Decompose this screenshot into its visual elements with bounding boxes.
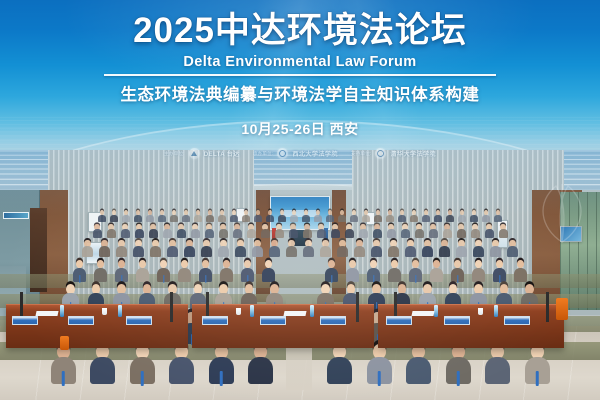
attendee — [458, 210, 466, 222]
name-card — [320, 316, 346, 325]
attendee-body — [99, 246, 110, 257]
attendee-body — [157, 268, 171, 282]
attendee-body — [275, 229, 284, 238]
attendee-body — [485, 357, 510, 384]
attendee — [266, 210, 274, 222]
attendee-body — [387, 229, 396, 238]
attendee — [149, 224, 158, 238]
attendee-body — [220, 268, 234, 282]
attendee-body — [134, 215, 142, 222]
attendee-body — [422, 246, 433, 257]
table-leg — [546, 292, 549, 322]
attendee-body — [115, 268, 129, 282]
attendee — [354, 240, 365, 257]
attendee — [514, 260, 528, 282]
attendee — [178, 260, 192, 282]
head-table — [378, 304, 564, 348]
orange-folder — [60, 336, 69, 350]
attendee-body — [514, 268, 528, 282]
attendee-body — [254, 215, 262, 222]
page-title-english: Delta Environmental Law Forum — [183, 54, 416, 70]
attendee-body — [443, 229, 452, 238]
university-seal-logo-icon — [375, 148, 386, 159]
orange-bag — [556, 298, 568, 320]
audience-row — [0, 224, 600, 238]
attendee — [233, 224, 242, 238]
attendee — [220, 260, 234, 282]
attendee-body — [107, 229, 116, 238]
name-card — [202, 316, 228, 325]
attendee-body — [51, 357, 76, 384]
attendee-body — [116, 246, 127, 257]
attendee-body — [525, 357, 550, 384]
attendee-body — [493, 268, 507, 282]
audience-row — [0, 210, 600, 222]
attendee — [388, 260, 402, 282]
attendee — [261, 224, 270, 238]
attendee-body — [386, 215, 394, 222]
attendee-body — [354, 246, 365, 257]
sponsor-name-label: 西北大学法学院 — [292, 149, 337, 158]
page-subtitle: 生态环境法典编纂与环境法学自主知识体系构建 — [120, 81, 479, 105]
attendee-body — [456, 246, 467, 257]
attendee — [254, 210, 262, 222]
attendee — [422, 240, 433, 257]
attendee — [146, 210, 154, 222]
attendee — [362, 210, 370, 222]
attendee-body — [374, 215, 382, 222]
document-stack — [35, 311, 58, 316]
attendee — [278, 210, 286, 222]
attendee-body — [507, 246, 518, 257]
attendee — [401, 224, 410, 238]
attendee — [337, 240, 348, 257]
attendee-body — [266, 215, 274, 222]
attendee-body — [135, 229, 144, 238]
attendee-body — [110, 215, 118, 222]
attendee — [289, 224, 298, 238]
attendee — [367, 344, 392, 384]
attendee-body — [446, 357, 471, 384]
attendee-body — [446, 215, 454, 222]
attendee — [262, 260, 276, 282]
name-card — [68, 316, 94, 325]
attendee — [443, 224, 452, 238]
attendee-body — [90, 357, 115, 384]
attendee-body — [248, 357, 273, 384]
attendee — [136, 260, 150, 282]
attendee — [163, 224, 172, 238]
attendee — [359, 224, 368, 238]
attendee-body — [317, 229, 326, 238]
attendee-body — [470, 215, 478, 222]
paper-cup — [478, 308, 483, 315]
attendee-body — [405, 246, 416, 257]
attendee-body — [233, 229, 242, 238]
attendee — [93, 224, 102, 238]
water-bottle — [118, 305, 122, 317]
attendee-body — [219, 229, 228, 238]
sponsor-item: 承办单位: 西北大学法学院 — [253, 148, 338, 159]
attendee — [493, 260, 507, 282]
water-bottle — [310, 305, 314, 317]
attendee — [410, 210, 418, 222]
attendee-body — [178, 268, 192, 282]
attendee-body — [252, 246, 263, 257]
attendee — [473, 240, 484, 257]
sponsor-name-label: DELTA 台达 — [204, 149, 240, 158]
attendee-body — [473, 246, 484, 257]
attendee — [134, 210, 142, 222]
attendee-body — [346, 268, 360, 282]
document-stack — [283, 311, 306, 316]
attendee-body — [388, 246, 399, 257]
attendee-lanyard — [62, 371, 65, 386]
attendee-body — [121, 229, 130, 238]
attendee-body — [170, 215, 178, 222]
sponsor-role-label: 支持单位: — [351, 151, 372, 157]
table-top — [192, 304, 374, 311]
attendee-body — [169, 357, 194, 384]
attendee — [470, 210, 478, 222]
attendee — [170, 210, 178, 222]
attendee — [429, 224, 438, 238]
table-leg — [170, 292, 173, 322]
name-card — [260, 316, 286, 325]
attendee — [99, 240, 110, 257]
attendee — [107, 224, 116, 238]
attendee — [434, 210, 442, 222]
attendee — [446, 344, 471, 384]
attendee — [242, 210, 250, 222]
attendee-body — [320, 246, 331, 257]
sponsor-role-label: 主办单位: — [164, 151, 185, 157]
attendee — [456, 240, 467, 257]
attendee — [303, 224, 312, 238]
sponsor-logo-strip: 主办单位: DELTA 台达 承办单位: 西北大学法学院 支持单位: 清华大学法… — [164, 148, 436, 159]
attendee-body — [191, 229, 200, 238]
attendee — [457, 224, 466, 238]
attendee-body — [230, 215, 238, 222]
attendee-body — [350, 215, 358, 222]
attendee — [471, 224, 480, 238]
attendee — [405, 240, 416, 257]
attendee — [290, 210, 298, 222]
attendee — [133, 240, 144, 257]
attendee-lanyard — [457, 371, 460, 386]
name-card — [12, 316, 38, 325]
attendee-body — [490, 246, 501, 257]
attendee — [398, 210, 406, 222]
attendee-body — [247, 229, 256, 238]
attendee-body — [338, 215, 346, 222]
attendee — [219, 224, 228, 238]
audience-row — [0, 260, 600, 282]
attendee-body — [94, 268, 108, 282]
attendee — [218, 240, 229, 257]
attendee — [386, 210, 394, 222]
attendee-body — [494, 215, 502, 222]
attendee-body — [218, 215, 226, 222]
attendee — [247, 224, 256, 238]
head-table — [6, 304, 188, 348]
attendee — [367, 260, 381, 282]
attendee — [327, 344, 352, 384]
attendee — [331, 224, 340, 238]
attendee — [194, 210, 202, 222]
attendee — [374, 210, 382, 222]
attendee — [110, 210, 118, 222]
attendee-body — [205, 229, 214, 238]
attendee — [230, 210, 238, 222]
university-seal-logo-icon — [277, 148, 288, 159]
event-banner: 2025中达环境法论坛 Delta Environmental Law Foru… — [0, 0, 600, 172]
attendee — [482, 210, 490, 222]
attendee-body — [451, 268, 465, 282]
attendee — [167, 240, 178, 257]
attendee — [525, 344, 550, 384]
attendee-body — [401, 229, 410, 238]
attendee — [490, 240, 501, 257]
sponsor-role-label: 承办单位: — [253, 151, 274, 157]
attendee — [345, 224, 354, 238]
water-bottle — [434, 305, 438, 317]
attendee — [122, 210, 130, 222]
attendee — [275, 224, 284, 238]
audience-row — [0, 240, 600, 257]
attendee-body — [182, 215, 190, 222]
table-top — [378, 304, 564, 311]
attendee-body — [82, 246, 93, 257]
attendee — [269, 240, 280, 257]
attendee — [371, 240, 382, 257]
attendee — [51, 344, 76, 384]
attendee — [302, 210, 310, 222]
attendee — [286, 240, 297, 257]
attendee-body — [235, 246, 246, 257]
attendee — [485, 224, 494, 238]
title-divider — [104, 74, 496, 76]
attendee-body — [406, 357, 431, 384]
attendee-body — [362, 215, 370, 222]
screenshot-root: 2025中达环境法论坛 Delta Environmental Law Foru… — [0, 0, 600, 400]
attendee — [191, 224, 200, 238]
name-card — [126, 316, 152, 325]
name-card — [386, 316, 412, 325]
sponsor-item: 支持单位: 清华大学法学院 — [351, 148, 436, 159]
attendee-body — [136, 268, 150, 282]
attendee — [406, 344, 431, 384]
attendee — [169, 344, 194, 384]
attendee-body — [327, 357, 352, 384]
attendee — [320, 240, 331, 257]
attendee-body — [482, 215, 490, 222]
attendee — [350, 210, 358, 222]
sponsor-item: 主办单位: DELTA 台达 — [164, 148, 240, 159]
attendee-body — [326, 215, 334, 222]
attendee-lanyard — [220, 371, 223, 386]
attendee-body — [177, 229, 186, 238]
attendee — [201, 240, 212, 257]
attendee-body — [163, 229, 172, 238]
attendee — [150, 240, 161, 257]
attendee-body — [150, 246, 161, 257]
attendee-body — [415, 229, 424, 238]
name-card — [444, 316, 470, 325]
table-top — [6, 304, 188, 311]
attendee — [439, 240, 450, 257]
attendee — [90, 344, 115, 384]
attendee-body — [429, 229, 438, 238]
attendee — [184, 240, 195, 257]
attendee-body — [422, 215, 430, 222]
attendee — [235, 240, 246, 257]
attendee — [73, 260, 87, 282]
attendee-lanyard — [536, 371, 539, 386]
attendee — [451, 260, 465, 282]
attendee-body — [146, 215, 154, 222]
attendee — [94, 260, 108, 282]
attendee-body — [206, 215, 214, 222]
attendee-body — [73, 268, 87, 282]
name-card — [504, 316, 530, 325]
head-table — [192, 304, 374, 348]
attendee-body — [261, 229, 270, 238]
attendee-body — [303, 229, 312, 238]
table-leg — [356, 292, 359, 322]
attendee-body — [345, 229, 354, 238]
attendee — [158, 210, 166, 222]
attendee — [218, 210, 226, 222]
document-stack — [411, 311, 434, 316]
attendee-body — [278, 215, 286, 222]
attendee-body — [184, 246, 195, 257]
attendee — [130, 344, 155, 384]
attendee-body — [337, 246, 348, 257]
attendee-body — [367, 268, 381, 282]
attendee-body — [410, 215, 418, 222]
attendee-body — [434, 215, 442, 222]
attendee-body — [149, 229, 158, 238]
attendee — [157, 260, 171, 282]
water-bottle — [60, 305, 64, 317]
attendee-body — [289, 229, 298, 238]
delta-triangle-logo-icon — [189, 148, 200, 159]
attendee-body — [302, 215, 310, 222]
attendee — [182, 210, 190, 222]
attendee-body — [130, 357, 155, 384]
attendee — [494, 210, 502, 222]
attendee — [415, 224, 424, 238]
attendee-body — [303, 246, 314, 257]
attendee — [499, 224, 508, 238]
attendee — [248, 344, 273, 384]
attendee — [472, 260, 486, 282]
attendee — [338, 210, 346, 222]
attendee — [82, 240, 93, 257]
conference-group-photo — [0, 150, 600, 400]
attendee — [326, 210, 334, 222]
attendee — [121, 224, 130, 238]
attendee-lanyard — [378, 371, 381, 386]
attendee-body — [499, 229, 508, 238]
attendee-body — [269, 246, 280, 257]
attendee — [206, 210, 214, 222]
attendee — [116, 240, 127, 257]
attendee-body — [472, 268, 486, 282]
attendee — [98, 210, 106, 222]
sponsor-name-label: 清华大学法学院 — [390, 149, 435, 158]
attendee — [387, 224, 396, 238]
attendee — [115, 260, 129, 282]
attendee — [199, 260, 213, 282]
attendee-body — [457, 229, 466, 238]
attendee-body — [325, 268, 339, 282]
attendee-body — [209, 357, 234, 384]
attendee-body — [122, 215, 130, 222]
attendee — [422, 210, 430, 222]
attendee-body — [388, 268, 402, 282]
water-bottle — [250, 305, 254, 317]
attendee-body — [373, 229, 382, 238]
event-date-location: 10月25-26日 西安 — [241, 119, 358, 139]
attendee — [430, 260, 444, 282]
attendee-body — [314, 215, 322, 222]
attendee-body — [439, 246, 450, 257]
attendee-body — [199, 268, 213, 282]
attendee-body — [471, 229, 480, 238]
attendee-body — [409, 268, 423, 282]
attendee-body — [286, 246, 297, 257]
attendee — [303, 240, 314, 257]
attendee-body — [242, 215, 250, 222]
attendee-body — [290, 215, 298, 222]
attendee-body — [331, 229, 340, 238]
page-title: 2025中达环境法论坛 — [133, 13, 467, 49]
attendee-body — [458, 215, 466, 222]
attendee-body — [167, 246, 178, 257]
attendee — [209, 344, 234, 384]
attendee-body — [158, 215, 166, 222]
attendee-body — [133, 246, 144, 257]
attendee-body — [371, 246, 382, 257]
attendee — [205, 224, 214, 238]
attendee-lanyard — [141, 371, 144, 386]
attendee-body — [262, 268, 276, 282]
attendee — [325, 260, 339, 282]
attendee — [507, 240, 518, 257]
attendee — [177, 224, 186, 238]
attendee-body — [485, 229, 494, 238]
attendee — [317, 224, 326, 238]
attendee — [409, 260, 423, 282]
attendee — [346, 260, 360, 282]
water-bottle — [494, 305, 498, 317]
attendee — [135, 224, 144, 238]
attendee-body — [398, 215, 406, 222]
attendee — [446, 210, 454, 222]
attendee — [373, 224, 382, 238]
attendee-body — [93, 229, 102, 238]
attendee — [314, 210, 322, 222]
attendee-body — [430, 268, 444, 282]
attendee — [252, 240, 263, 257]
paper-cup — [236, 308, 241, 315]
attendee-body — [218, 246, 229, 257]
audience-area — [0, 202, 600, 387]
attendee — [388, 240, 399, 257]
attendee-body — [241, 268, 255, 282]
